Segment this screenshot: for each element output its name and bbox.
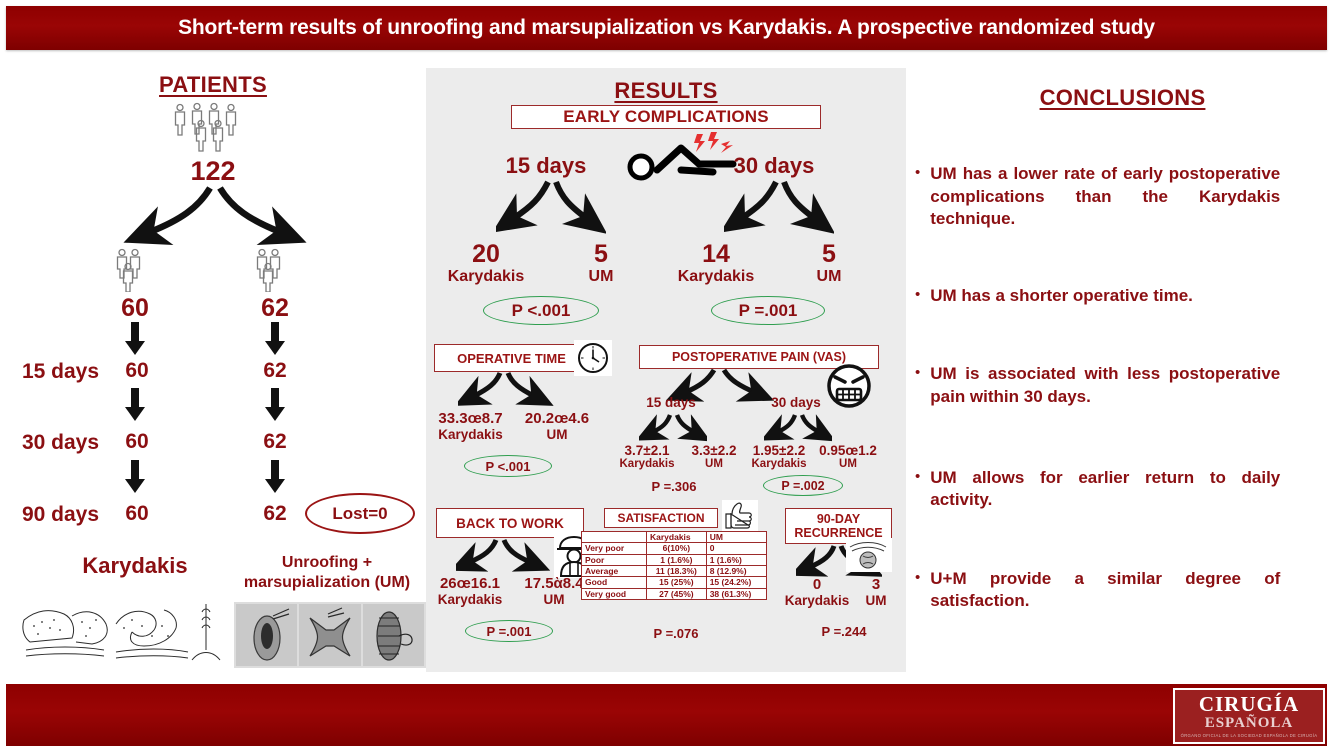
satisfaction-row-karydakis: 1 (1.6%) (647, 554, 707, 565)
down-arrow-icon (262, 322, 288, 356)
conclusion-item: • U+M provide a similar degree of satisf… (915, 568, 1330, 613)
conclusion-item: • UM allows for earlier return to daily … (915, 467, 1330, 512)
pain-30-karydakis-value: 1.95±2.2 (741, 443, 817, 458)
satisfaction-row-label: Average (582, 566, 647, 577)
pain-30-um: 0.95œ1.2 UM (813, 443, 883, 470)
satisfaction-row-karydakis: 15 (25%) (647, 577, 707, 588)
bullet-icon: • (915, 163, 920, 182)
split-arrows-icon (764, 413, 832, 445)
ot-karydakis-label: Karydakis (423, 427, 518, 442)
rec-karydakis: 0 Karydakis (776, 576, 858, 608)
conclusions-panel: CONCLUSIONS • UM has a lower rate of ear… (915, 85, 1330, 665)
patients-panel: PATIENTS 122 (0, 68, 426, 672)
people-group-icon (170, 101, 256, 153)
page-title: Short-term results of unroofing and mars… (178, 16, 1155, 40)
people-left-arm-icon (110, 248, 160, 292)
results-title: RESULTS (426, 78, 906, 104)
right-arm-initial-count: 62 (245, 294, 305, 323)
split-arrows-icon (639, 413, 707, 445)
ec-15-karydakis-label: Karydakis (446, 268, 526, 286)
bullet-icon: • (915, 568, 920, 587)
right-count-90: 62 (255, 502, 295, 526)
satisfaction-row-label: Very poor (582, 543, 647, 554)
lost-badge: Lost=0 (305, 493, 415, 534)
conclusion-text: UM has a lower rate of early postoperati… (930, 163, 1280, 231)
people-right-arm-icon (250, 248, 300, 292)
ot-um-value: 20.2œ4.6 (514, 410, 600, 427)
journal-logo: CIRUGÍA ESPAÑOLA ÓRGANO OFICIAL DE LA SO… (1173, 688, 1325, 744)
split-arrows-icon (496, 180, 606, 242)
satisfaction-col-0 (582, 532, 647, 543)
satisfaction-row-label: Good (582, 577, 647, 588)
table-row: Very poor 6(10%) 0 (582, 543, 767, 554)
operative-time-box: OPERATIVE TIME (434, 344, 589, 372)
satisfaction-box: SATISFACTION (604, 508, 718, 528)
conclusions-title: CONCLUSIONS (915, 85, 1330, 111)
right-count-15: 62 (255, 359, 295, 383)
down-arrow-icon (122, 322, 148, 356)
recurrence-box-line1: 90-DAY (817, 512, 860, 526)
left-count-15: 60 (117, 359, 157, 383)
btw-karydakis-label: Karydakis (424, 592, 516, 607)
header-bar: Short-term results of unroofing and mars… (6, 6, 1327, 50)
ot-um-label: UM (514, 427, 600, 442)
pain-period-15: 15 days (631, 395, 711, 410)
down-arrow-icon (122, 388, 148, 422)
satisfaction-row-karydakis: 27 (45%) (647, 588, 707, 599)
right-arm-name-line2: marsupialization (UM) (228, 573, 426, 593)
satisfaction-row-um: 15 (24.2%) (706, 577, 766, 588)
table-row: Good 15 (25%) 15 (24.2%) (582, 577, 767, 588)
results-content: RESULTS EARLY COMPLICATIONS 15 days (426, 68, 906, 672)
ot-karydakis: 33.3œ8.7 Karydakis (423, 410, 518, 442)
journal-logo-line1: CIRUGÍA (1199, 694, 1299, 715)
footer-bar (6, 684, 1327, 746)
ec-15-pvalue: P <.001 (483, 296, 599, 325)
ec-30-um-label: UM (794, 268, 864, 286)
pain-15-karydakis-value: 3.7±2.1 (609, 443, 685, 458)
pain-30-um-value: 0.95œ1.2 (813, 443, 883, 458)
bullet-icon: • (915, 363, 920, 382)
table-header-row: Karydakis UM (582, 532, 767, 543)
ec-period-30: 30 days (714, 153, 834, 179)
recurrence-illustration (846, 538, 892, 572)
satisfaction-row-karydakis: 11 (18.3%) (647, 566, 707, 577)
pain-15-um-label: UM (680, 458, 748, 470)
satisfaction-col-1: Karydakis (647, 532, 707, 543)
um-technique-photos (234, 602, 426, 668)
pain-15-karydakis: 3.7±2.1 Karydakis (609, 443, 685, 470)
satisfaction-row-um: 0 (706, 543, 766, 554)
left-arm-initial-count: 60 (105, 294, 165, 323)
satisfaction-row-label: Very good (582, 588, 647, 599)
pain-30-um-label: UM (813, 458, 883, 470)
bullet-icon: • (915, 467, 920, 486)
split-arrows-icon (458, 371, 568, 413)
ot-pvalue: P <.001 (464, 455, 552, 477)
satisfaction-col-2: UM (706, 532, 766, 543)
satisfaction-pvalue: P =.076 (626, 626, 726, 641)
ot-um: 20.2œ4.6 UM (514, 410, 600, 442)
table-row: Poor 1 (1.6%) 1 (1.6%) (582, 554, 767, 565)
patients-title: PATIENTS (0, 72, 426, 98)
satisfaction-row-label: Poor (582, 554, 647, 565)
timepoint-label-90: 90 days (8, 503, 113, 527)
left-arm-name: Karydakis (40, 553, 230, 579)
satisfaction-row-um: 8 (12.9%) (706, 566, 766, 577)
conclusion-item: • UM has a shorter operative time. (915, 285, 1330, 308)
um-photo-3 (363, 604, 424, 666)
satisfaction-row-um: 1 (1.6%) (706, 554, 766, 565)
btw-karydakis-value: 26œ16.1 (424, 575, 516, 592)
thumbs-up-icon (722, 500, 758, 534)
pain-15-pvalue: P =.306 (624, 479, 724, 494)
ec-30-karydakis-value: 14 (676, 240, 756, 269)
btw-pvalue: P =.001 (465, 620, 553, 642)
btw-karydakis: 26œ16.1 Karydakis (424, 575, 516, 607)
rec-um-value: 3 (851, 576, 901, 593)
left-count-30: 60 (117, 430, 157, 454)
table-row: Very good 27 (45%) 38 (61.3%) (582, 588, 767, 599)
pain-period-30: 30 days (756, 395, 836, 410)
ec-30-um-value: 5 (794, 240, 864, 269)
pain-30-pvalue: P =.002 (763, 475, 843, 496)
ec-period-15: 15 days (486, 153, 606, 179)
satisfaction-row-karydakis: 6(10%) (647, 543, 707, 554)
right-arm-name: Unroofing + marsupialization (UM) (228, 553, 426, 593)
pain-15-karydakis-label: Karydakis (609, 458, 685, 470)
ec-30-karydakis: 14 Karydakis (676, 240, 756, 286)
ot-karydakis-value: 33.3œ8.7 (423, 410, 518, 427)
conclusion-text: UM is associated with less postoperative… (930, 363, 1280, 408)
um-photo-1 (236, 604, 297, 666)
conclusion-text: U+M provide a similar degree of satisfac… (930, 568, 1280, 613)
clock-icon (574, 340, 612, 376)
conclusion-text: UM allows for earlier return to daily ac… (930, 467, 1280, 512)
rec-karydakis-value: 0 (776, 576, 858, 593)
rec-karydakis-label: Karydakis (776, 593, 858, 608)
down-arrow-icon (262, 388, 288, 422)
timepoint-label-30: 30 days (8, 431, 113, 455)
conclusion-text: UM has a shorter operative time. (930, 285, 1280, 308)
conclusion-item: • UM is associated with less postoperati… (915, 363, 1330, 408)
pain-15-um-value: 3.3±2.2 (680, 443, 748, 458)
ec-15-um-value: 5 (566, 240, 636, 269)
down-arrow-icon (262, 460, 288, 494)
patients-total: 122 (0, 156, 426, 187)
pain-30-karydakis-label: Karydakis (741, 458, 817, 470)
pain-30-karydakis: 1.95±2.2 Karydakis (741, 443, 817, 470)
ec-15-karydakis-value: 20 (446, 240, 526, 269)
right-arm-name-line1: Unroofing + (228, 553, 426, 573)
rec-pvalue: P =.244 (794, 624, 894, 639)
right-count-30: 62 (255, 430, 295, 454)
journal-logo-line2: ESPAÑOLA (1205, 715, 1294, 732)
table-row: Average 11 (18.3%) 8 (12.9%) (582, 566, 767, 577)
satisfaction-row-um: 38 (61.3%) (706, 588, 766, 599)
ec-30-um: 5 UM (794, 240, 864, 286)
ec-15-um: 5 UM (566, 240, 636, 286)
ec-15-um-label: UM (566, 268, 636, 286)
split-arrows-icon (456, 538, 556, 578)
conclusion-item: • UM has a lower rate of early postopera… (915, 163, 1330, 231)
left-count-90: 60 (117, 502, 157, 526)
bullet-icon: • (915, 285, 920, 304)
ec-30-karydakis-label: Karydakis (676, 268, 756, 286)
ec-15-karydakis: 20 Karydakis (446, 240, 526, 286)
satisfaction-table: Karydakis UM Very poor 6(10%) 0 Poor 1 (… (581, 531, 767, 600)
rec-um-label: UM (851, 593, 901, 608)
timepoint-label-15: 15 days (8, 360, 113, 384)
rec-um: 3 UM (851, 576, 901, 608)
down-arrow-icon (122, 460, 148, 494)
ec-30-pvalue: P =.001 (711, 296, 825, 325)
karydakis-technique-illustration (20, 598, 230, 666)
journal-logo-line3: ÓRGANO OFICIAL DE LA SOCIEDAD ESPAÑOLA D… (1181, 734, 1318, 739)
split-arrows-icon (724, 180, 834, 242)
um-photo-2 (299, 604, 360, 666)
pain-15-um: 3.3±2.2 UM (680, 443, 748, 470)
early-complications-box: EARLY COMPLICATIONS (511, 105, 821, 129)
